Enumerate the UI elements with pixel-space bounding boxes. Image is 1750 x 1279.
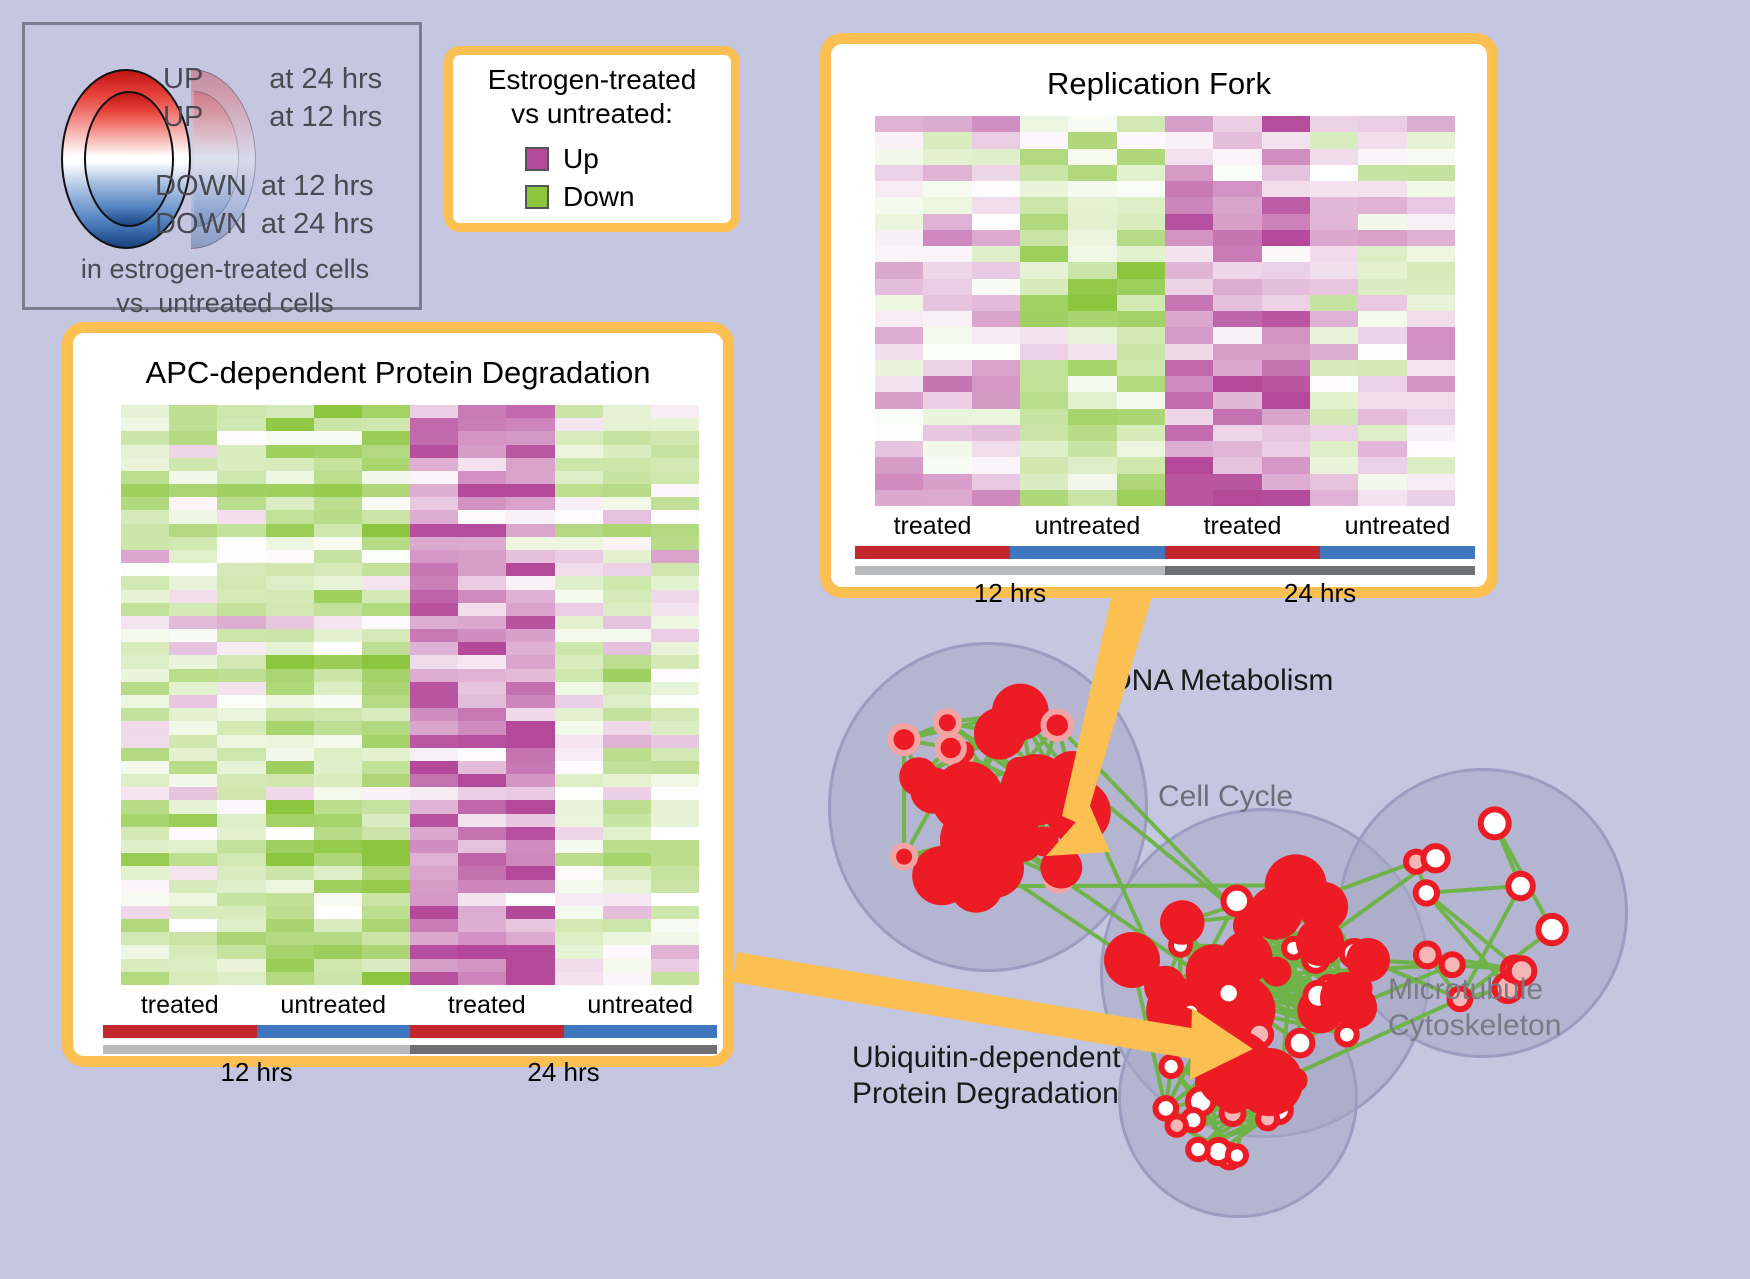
heatmap-cell [1358,279,1406,295]
network-node [1040,847,1082,889]
heatmap-cell [972,149,1020,165]
heatmap-cell [314,445,362,458]
heatmap-cell [121,629,169,642]
heatmap-cell [506,761,554,774]
heatmap-cell [121,932,169,945]
heatmap-cell [314,814,362,827]
heatmap-cell [1068,490,1116,506]
heatmap-cell [458,748,506,761]
heatmap-cell [458,959,506,972]
heatmap-cell [875,344,923,360]
heatmap-cell [1068,327,1116,343]
heatmap-cell [266,761,314,774]
heatmap-cell [217,563,265,576]
heatmap-cell [410,445,458,458]
heatmap-cell [266,616,314,629]
heatmap-cell [362,445,410,458]
heatmap-cell [458,735,506,748]
heatmap-cell [1262,165,1310,181]
heatmap-cell [410,484,458,497]
heatmap-cell [651,853,699,866]
heatmap-cell [506,418,554,431]
heatmap-cell [1117,327,1165,343]
heatmap-cell [1310,295,1358,311]
heatmap-cell [458,642,506,655]
heatmap-cell [506,840,554,853]
heatmap-cell [410,735,458,748]
heatmap-cell [603,629,651,642]
up-down-legend-card: Estrogen-treated vs untreated: Up Down [444,46,740,232]
heatmap-cell [875,474,923,490]
heatmap-cell [314,893,362,906]
heatmap-cell [169,866,217,879]
legend-time: at 24 hrs [261,208,374,241]
heatmap-cell [603,445,651,458]
heatmap-cell [1068,311,1116,327]
heatmap-cell [266,866,314,879]
heatmap-cell [266,550,314,563]
heatmap-cell [555,629,603,642]
heatmap-cell [314,774,362,787]
heatmap-cell [1310,376,1358,392]
heatmap-cell [1407,149,1455,165]
heatmap-cell [410,721,458,734]
condition-label: untreated [1010,512,1165,541]
heatmap-cell [121,563,169,576]
heatmap-cell [875,246,923,262]
heatmap-cell [121,827,169,840]
heatmap-cell [1020,344,1068,360]
heatmap-cell [458,695,506,708]
heatmap-cell [651,471,699,484]
heatmap-cell [362,932,410,945]
heatmap-cell [266,418,314,431]
heatmap-cell [651,972,699,985]
heatmap-cell [923,344,971,360]
heatmap-cell [217,866,265,879]
heatmap-cell [266,603,314,616]
heatmap-cell [1358,409,1406,425]
heatmap-cell [169,853,217,866]
heatmap-cell [1262,132,1310,148]
heatmap-cell [169,497,217,510]
heatmap-cell [362,774,410,787]
heatmap-cell [651,550,699,563]
heatmap-cell [121,814,169,827]
heatmap-cell [506,563,554,576]
heatmap-cell [506,866,554,879]
heatmap-cell [651,945,699,958]
time-bar-segment [410,1045,717,1054]
heatmap-cell [603,906,651,919]
heatmap-cell [266,853,314,866]
heatmap-cell [506,524,554,537]
heatmap-cell [1262,327,1310,343]
heatmap-cell [362,708,410,721]
heatmap-cell [1020,425,1068,441]
heatmap-cell [875,392,923,408]
heatmap-cell [1165,457,1213,473]
heatmap-cell [1165,344,1213,360]
heatmap-cell [1262,246,1310,262]
heatmap-cell [972,295,1020,311]
heatmap-cell [923,311,971,327]
heatmap-cell [875,181,923,197]
heatmap-cell [1310,344,1358,360]
network-node [1160,900,1205,945]
heatmap-cell [555,682,603,695]
heatmap-cell [266,827,314,840]
heatmap-cell [1068,392,1116,408]
heatmap-cell [1213,197,1261,213]
heatmap-cell [217,774,265,787]
heatmap-cell [362,695,410,708]
heatmap-cell [314,655,362,668]
heatmap-cell [410,642,458,655]
heatmap-cell [458,787,506,800]
heatmap-cell [1117,392,1165,408]
heatmap-cell [410,537,458,550]
heatmap-cell [1165,474,1213,490]
heatmap-cell [555,787,603,800]
heatmap-cell [314,458,362,471]
heatmap-cell [1020,392,1068,408]
heatmap-cell [458,484,506,497]
heatmap-cell [1310,230,1358,246]
heatmap-cell [121,524,169,537]
heatmap-cell [217,405,265,418]
heatmap-cell [410,945,458,958]
heatmap-cell [362,748,410,761]
condition-labels-replication: treated untreated treated untreated [855,512,1475,541]
heatmap-cell [651,563,699,576]
legend-time: at 12 hrs [261,170,374,203]
heatmap-cell [972,490,1020,506]
heatmap-cell [555,932,603,945]
heatmap-cell [362,458,410,471]
heatmap-cell [362,642,410,655]
heatmap-cell [266,919,314,932]
heatmap-cell [1407,262,1455,278]
heatmap-cell [121,669,169,682]
heatmap-cell [603,642,651,655]
heatmap-cell [217,708,265,721]
heatmap-cell [972,246,1020,262]
heatmap-cell [121,866,169,879]
heatmap-cell [410,524,458,537]
heatmap-cell [314,550,362,563]
heatmap-cell [1020,360,1068,376]
heatmap-cell [1165,246,1213,262]
heatmap-cell [875,149,923,165]
pathway-network-diagram: DNA Metabolism Cell Cycle Microtubule Cy… [780,600,1740,1279]
heatmap-cell [972,132,1020,148]
heatmap-cell [651,880,699,893]
heatmap-cell [555,471,603,484]
heatmap-cell [1407,295,1455,311]
heatmap-cell [923,457,971,473]
heatmap-cell [972,425,1020,441]
heatmap-cell [1068,457,1116,473]
heatmap-cell [362,471,410,484]
heatmap-cell [1068,425,1116,441]
heatmap-cell [1117,214,1165,230]
heatmap-cell [410,550,458,563]
heatmap-cell [1020,376,1068,392]
heatmap-cell [458,576,506,589]
heatmap-cell [923,279,971,295]
heatmap-cell [1358,165,1406,181]
heatmap-cell [506,906,554,919]
heatmap-cell [1213,425,1261,441]
heatmap-cell [121,708,169,721]
legend-caption-line2: vs. untreated cells [25,287,425,321]
heatmap-cell [169,563,217,576]
network-node [1228,1146,1246,1164]
heatmap-cell [362,800,410,813]
heatmap-cell [458,550,506,563]
heatmap-cell [410,959,458,972]
condition-labels-apc: treated untreated treated untreated [103,991,717,1020]
heatmap-cell [1020,246,1068,262]
heatmap-cell [314,471,362,484]
heatmap-cell [1117,149,1165,165]
heatmap-cell [217,972,265,985]
time-label: 24 hrs [410,1057,717,1088]
heatmap-cell [1358,344,1406,360]
heatmap-cell [972,360,1020,376]
heatmap-cell [217,576,265,589]
heatmap-cell [506,550,554,563]
heatmap-cell [1213,409,1261,425]
heatmap-cell [121,590,169,603]
heatmap-cell [410,906,458,919]
heatmap-cell [1068,441,1116,457]
heatmap-cell [1117,409,1165,425]
heatmap-cell [266,405,314,418]
heatmap-cell [555,405,603,418]
heatmap-cell [603,484,651,497]
heatmap-cell [121,761,169,774]
heatmap-cell [362,906,410,919]
heatmap-cell [972,441,1020,457]
heatmap-cell [875,132,923,148]
heatmap-cell [506,853,554,866]
heatmap-cell [506,616,554,629]
heatmap-cell [217,761,265,774]
heatmap-cell [362,431,410,444]
heatmap-cell [1213,279,1261,295]
heatmap-cell [1213,149,1261,165]
heatmap-cell [875,409,923,425]
heatmap-cell [1262,409,1310,425]
heatmap-cell [266,959,314,972]
heatmap-cell [121,959,169,972]
heatmap-cell [1020,474,1068,490]
heatmap-cell [1407,279,1455,295]
heatmap-cell [121,576,169,589]
heatmap-cell [1213,327,1261,343]
heatmap-cell [555,418,603,431]
heatmap-cell [121,550,169,563]
heatmap-cell [1165,425,1213,441]
heatmap-cell [1407,344,1455,360]
heatmap-apc-dependent [121,405,699,985]
network-node [992,684,1049,741]
heatmap-cell [1407,392,1455,408]
heatmap-cell [458,418,506,431]
heatmap-cell [458,471,506,484]
heatmap-cell [410,761,458,774]
heatmap-cell [1117,197,1165,213]
heatmap-cell [217,445,265,458]
heatmap-cell [1407,409,1455,425]
heatmap-cell [555,655,603,668]
heatmap-cell [458,563,506,576]
heatmap-cell [1165,116,1213,132]
heatmap-cell [555,959,603,972]
heatmap-cell [410,695,458,708]
heatmap-cell [603,774,651,787]
heatmap-cell [169,550,217,563]
heatmap-cell [1020,311,1068,327]
updown-title-line1: Estrogen-treated [453,63,731,97]
heatmap-cell [923,197,971,213]
heatmap-cell [1358,116,1406,132]
heatmap-cell [1068,165,1116,181]
heatmap-cell [410,669,458,682]
heatmap-cell [651,695,699,708]
heatmap-cell [217,590,265,603]
heatmap-cell [266,458,314,471]
time-label: 12 hrs [103,1057,410,1088]
heatmap-cell [217,959,265,972]
heatmap-cell [1262,197,1310,213]
condition-label: treated [103,991,257,1020]
heatmap-cell [314,708,362,721]
heatmap-cell [923,360,971,376]
heatmap-cell [266,814,314,827]
heatmap-cell [603,840,651,853]
heatmap-cell [121,510,169,523]
heatmap-cell [169,471,217,484]
condition-bar-segment [103,1025,257,1038]
heatmap-cell [217,787,265,800]
heatmap-cell [651,510,699,523]
heatmap-cell [1020,214,1068,230]
heatmap-cell [217,906,265,919]
heatmap-cell [1358,181,1406,197]
heatmap-cell [217,827,265,840]
heatmap-cell [266,471,314,484]
heatmap-cell [603,471,651,484]
network-node [1044,712,1071,739]
heatmap-cell [362,880,410,893]
heatmap-cell [121,537,169,550]
cluster-label-ubiquitin: Ubiquitin-dependent Protein Degradation [852,1040,1121,1112]
heatmap-cell [1165,409,1213,425]
heatmap-cell [169,682,217,695]
heatmap-cell [651,787,699,800]
heatmap-cell [1407,132,1455,148]
heatmap-cell [266,642,314,655]
heatmap-cell [314,497,362,510]
heatmap-cell [266,972,314,985]
condition-colorbar-replication [855,546,1475,559]
heatmap-cell [506,708,554,721]
heatmap-cell [603,458,651,471]
heatmap-cell [875,230,923,246]
heatmap-cell [1165,295,1213,311]
heatmap-cell [1310,246,1358,262]
heatmap-cell [1165,490,1213,506]
heatmap-cell [1020,181,1068,197]
heatmap-cell [121,906,169,919]
heatmap-cell [923,181,971,197]
heatmap-cell [506,642,554,655]
network-node [1296,918,1344,966]
heatmap-cell [362,853,410,866]
heatmap-cell [458,814,506,827]
heatmap-cell [121,853,169,866]
heatmap-cell [651,761,699,774]
heatmap-cell [217,800,265,813]
heatmap-cell [1068,262,1116,278]
heatmap-cell [362,405,410,418]
legend-time: at 12 hrs [269,101,382,134]
heatmap-cell [410,893,458,906]
heatmap-cell [410,497,458,510]
heatmap-cell [651,603,699,616]
heatmap-cell [1407,311,1455,327]
heatmap-cell [410,932,458,945]
network-node [891,726,918,753]
heatmap-cell [1213,490,1261,506]
heatmap-cell [651,721,699,734]
heatmap-cell [603,866,651,879]
heatmap-cell [169,616,217,629]
heatmap-cell [1068,116,1116,132]
heatmap-cell [506,497,554,510]
heatmap-cell [1213,230,1261,246]
heatmap-cell [121,682,169,695]
heatmap-cell [217,735,265,748]
heatmap-cell [1407,214,1455,230]
heatmap-cell [1262,344,1310,360]
heatmap-cell [555,563,603,576]
heatmap-cell [651,735,699,748]
heatmap-cell [1407,490,1455,506]
heatmap-cell [1213,132,1261,148]
heatmap-cell [1165,262,1213,278]
heatmap-cell [362,550,410,563]
condition-bar-segment [410,1025,564,1038]
heatmap-cell [1407,441,1455,457]
heatmap-cell [217,945,265,958]
heatmap-cell [266,629,314,642]
heatmap-cell [555,616,603,629]
heatmap-cell [410,919,458,932]
heatmap-cell [875,214,923,230]
legend-keyword: DOWN [155,208,247,241]
heatmap-cell [506,695,554,708]
heatmap-cell [217,642,265,655]
heatmap-cell [1068,230,1116,246]
network-node [1188,1140,1208,1160]
heatmap-cell [603,893,651,906]
heatmap-cell [1213,376,1261,392]
heatmap-cell [1310,490,1358,506]
